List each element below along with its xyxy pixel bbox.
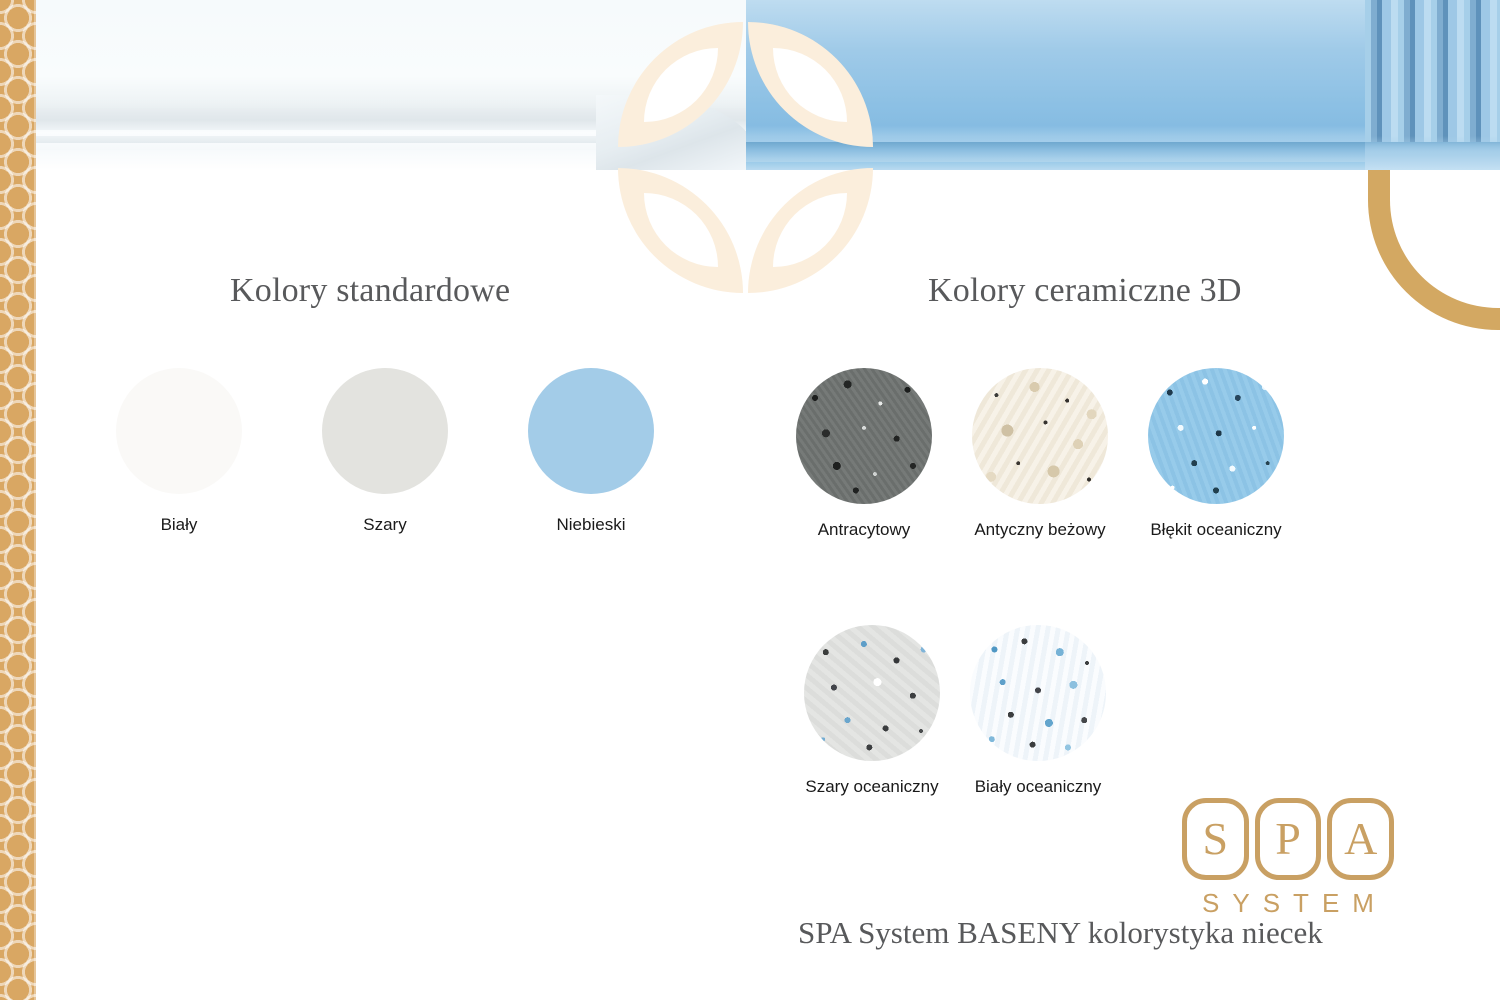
swatch-disc[interactable]	[804, 625, 940, 761]
swatch-disc[interactable]	[972, 368, 1108, 504]
swatch-label: Niebieski	[557, 515, 626, 535]
banner-white-pool	[36, 0, 746, 170]
swatch-bialy-oceaniczny[interactable]: Biały oceaniczny	[970, 625, 1106, 797]
swatch-szary[interactable]: Szary	[322, 368, 448, 535]
swatch-antracytowy[interactable]: Antracytowy	[796, 368, 932, 540]
swatch-disc[interactable]	[116, 368, 242, 494]
swatch-bialy[interactable]: Biały	[116, 368, 242, 535]
swatch-label: Błękit oceaniczny	[1150, 520, 1281, 540]
quatrefoil-pattern	[0, 0, 36, 1000]
banner-photo	[36, 0, 1500, 170]
flower-petal-bottom-right	[748, 168, 873, 293]
swatch-blekit-oceaniczny[interactable]: Błękit oceaniczny	[1148, 368, 1284, 540]
section-title-ceramic: Kolory ceramiczne 3D	[928, 272, 1242, 310]
logo-letter-p: P	[1255, 798, 1322, 880]
logo-letter-a: A	[1327, 798, 1394, 880]
swatch-disc[interactable]	[970, 625, 1106, 761]
swatch-label: Antracytowy	[818, 520, 911, 540]
swatch-antyczny-bezowy[interactable]: Antyczny beżowy	[972, 368, 1108, 540]
slide-caption: SPA System BASENY kolorystyka niecek	[798, 915, 1323, 951]
swatch-niebieski[interactable]: Niebieski	[528, 368, 654, 535]
slide-canvas: Kolory standardowe Kolory ceramiczne 3D …	[0, 0, 1500, 1000]
swatch-disc[interactable]	[528, 368, 654, 494]
swatch-row: Antracytowy Antyczny beżowy Błękit ocean…	[796, 368, 1284, 540]
swatch-label: Biały oceaniczny	[975, 777, 1102, 797]
swatch-disc[interactable]	[322, 368, 448, 494]
pool-step-reflection	[1365, 136, 1500, 170]
swatch-disc[interactable]	[1148, 368, 1284, 504]
logo-letter-s: S	[1182, 798, 1249, 880]
swatch-label: Biały	[161, 515, 198, 535]
swatch-label: Antyczny beżowy	[974, 520, 1105, 540]
left-decorative-band	[0, 0, 36, 1000]
swatch-row: Biały Szary Niebieski	[116, 368, 654, 535]
swatch-group-standard: Biały Szary Niebieski	[116, 368, 654, 535]
pool-corner	[596, 95, 761, 170]
swatch-szary-oceaniczny[interactable]: Szary oceaniczny	[804, 625, 940, 797]
spa-system-logo: S P A SYSTEM	[1182, 798, 1394, 919]
flower-petal-bottom-left	[618, 168, 743, 293]
swatch-label: Szary oceaniczny	[805, 777, 938, 797]
logo-letter-boxes: S P A	[1182, 798, 1394, 880]
swatch-label: Szary	[363, 515, 406, 535]
gold-arc-decoration	[1368, 170, 1500, 330]
swatch-row: Szary oceaniczny Biały oceaniczny	[804, 625, 1284, 797]
section-title-standard: Kolory standardowe	[230, 272, 510, 310]
banner-blue-pool	[746, 0, 1500, 170]
swatch-disc[interactable]	[796, 368, 932, 504]
band-edge-highlight	[34, 0, 36, 1000]
swatch-group-ceramic: Antracytowy Antyczny beżowy Błękit ocean…	[796, 368, 1284, 797]
